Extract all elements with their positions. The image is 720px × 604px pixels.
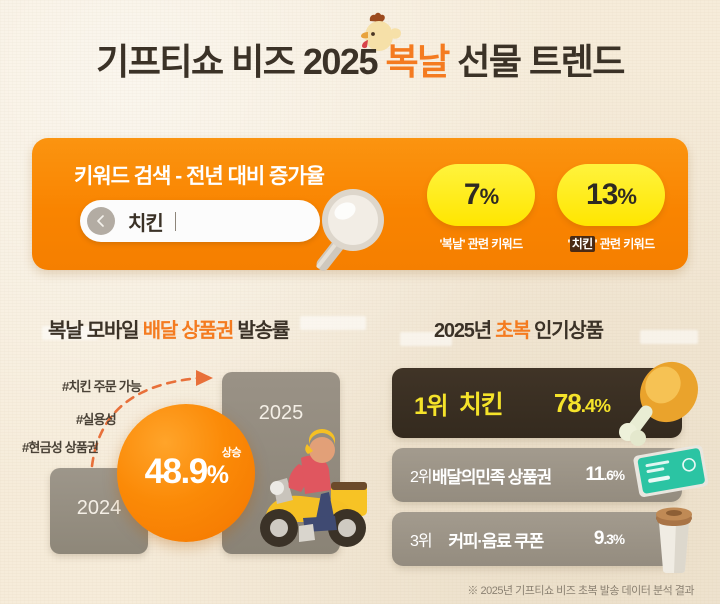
magnifier-icon [309, 180, 405, 290]
header-smudge [640, 330, 698, 344]
left-section-heading: 복날 모바일 배달 상품권 발송률 [48, 314, 289, 343]
rank-row: 3위 커피·음료 쿠폰 9.3% [392, 512, 682, 566]
badge-caption: '복날' 관련 키워드 [427, 235, 535, 252]
rank-percent: 78.4% [554, 388, 610, 419]
chicken-drumstick-icon [612, 358, 708, 450]
title-part1: 기프티쇼 비즈 2025 [96, 41, 385, 82]
page-title: 기프티쇼 비즈 2025 복날 선물 트렌드 [0, 44, 720, 80]
rank-position: 2위 [410, 463, 432, 487]
rank-percent: 11.6% [585, 464, 624, 486]
rank-name: 배달의민족 상품권 [432, 463, 586, 488]
rank-name: 치킨 [447, 385, 553, 421]
badge-value-container: 7% [427, 164, 535, 226]
search-input[interactable]: 치킨 [80, 200, 320, 242]
text-caret [175, 212, 177, 231]
rank-position: 3위 [410, 527, 432, 551]
rank-position: 1위 [414, 386, 447, 421]
title-highlight: 복날 [385, 41, 448, 82]
keyword-search-panel: 키워드 검색 - 전년 대비 증가율 치킨 7% ' [32, 138, 688, 270]
hashtag-item: #실용성 [76, 409, 116, 428]
header-smudge [300, 316, 366, 330]
badge-caption-keyword: 치킨 [570, 236, 595, 252]
panel-heading: 키워드 검색 - 전년 대비 증가율 [74, 160, 324, 190]
footnote: ※ 2025년 기프티쇼 비즈 초복 발송 데이터 분석 결과 [467, 582, 694, 598]
hashtag-item: #현금성 상품권 [22, 437, 98, 456]
growth-stat-circle: 상승 48.9% [117, 404, 255, 542]
title-area: 기프티쇼 비즈 2025 복날 선물 트렌드 [0, 44, 720, 80]
title-part2: 선물 트렌드 [449, 41, 624, 82]
search-value: 치킨 [128, 207, 163, 236]
badge-value: 7% [464, 178, 498, 212]
stat-value: 48.9% [117, 454, 255, 489]
badge-value-container: 13% [557, 164, 665, 226]
back-arrow-icon[interactable] [87, 207, 115, 235]
badge-group-boknal: 7% '복날' 관련 키워드 [427, 164, 535, 252]
badge-caption: '치킨' 관련 키워드 [557, 235, 665, 252]
hashtag-item: #치킨 주문 가능 [62, 376, 141, 395]
badge-group-chicken: 13% '치킨' 관련 키워드 [557, 164, 665, 252]
rank-percent: 9.3% [594, 528, 624, 550]
badge-value: 13% [586, 178, 636, 212]
delivery-scooter-icon [243, 418, 373, 563]
rank-name: 커피·음료 쿠폰 [432, 527, 594, 552]
coffee-cup-icon [648, 500, 700, 574]
gift-card-icon [632, 444, 710, 500]
infographic-page: 기프티쇼 비즈 2025 복날 선물 트렌드 키워드 검색 - 전년 대비 증가… [0, 0, 720, 604]
right-section-heading: 2025년 초복 인기상품 [434, 314, 603, 343]
